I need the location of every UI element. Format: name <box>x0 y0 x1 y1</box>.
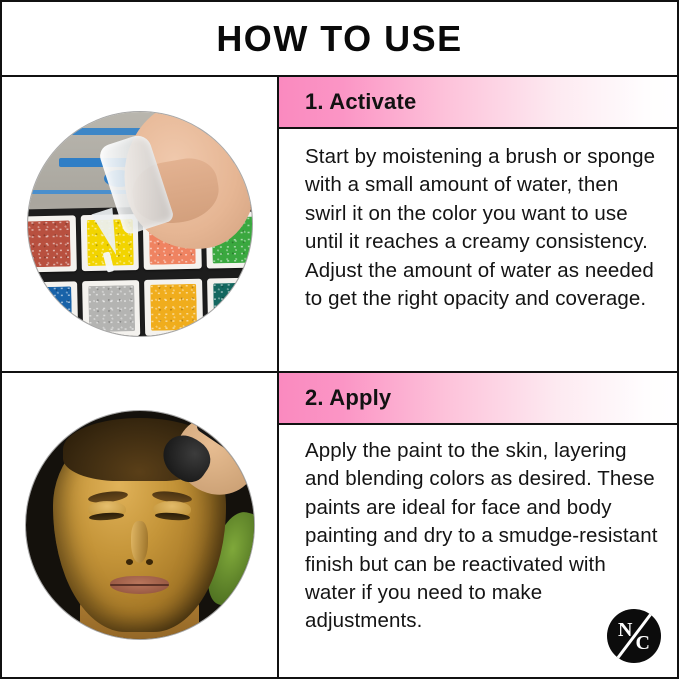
step-1-band: 1. Activate <box>279 77 677 129</box>
step-2-band: 2. Apply <box>279 373 677 425</box>
paint-pan <box>82 280 141 336</box>
step-1-body: Start by moistening a brush or sponge wi… <box>305 143 661 313</box>
lip-line <box>110 584 169 586</box>
how-to-use-infographic: HOW TO USE <box>0 0 679 679</box>
logo-letter-c: C <box>636 633 650 653</box>
step-1-text-cell: 1. Activate Start by moistening a brush … <box>279 77 677 371</box>
step-2-image-cell <box>2 373 279 677</box>
paint-pan <box>207 277 251 334</box>
paint-palette-photo <box>28 112 252 336</box>
nose <box>131 521 148 563</box>
step-row-2: 2. Apply Apply the paint to the skin, la… <box>2 373 677 677</box>
gold-face-photo <box>26 411 254 639</box>
paint-pan <box>28 215 77 272</box>
paint-pan <box>145 278 204 335</box>
step-2-text-cell: 2. Apply Apply the paint to the skin, la… <box>279 373 677 677</box>
nostril <box>126 559 134 565</box>
header: HOW TO USE <box>2 2 677 77</box>
step-2-body: Apply the paint to the skin, layering an… <box>305 437 661 636</box>
page-title: HOW TO USE <box>216 21 462 57</box>
makeup-brush <box>158 420 236 488</box>
step-row-1: 1. Activate Start by moistening a brush … <box>2 77 677 373</box>
paint-pan <box>28 281 79 336</box>
nostril <box>146 559 154 565</box>
step-1-image-cell <box>2 77 279 371</box>
brand-logo: N C <box>607 609 661 663</box>
step-2-label: 2. Apply <box>279 387 391 409</box>
logo-letter-n: N <box>618 620 632 640</box>
step-1-label: 1. Activate <box>279 91 416 113</box>
